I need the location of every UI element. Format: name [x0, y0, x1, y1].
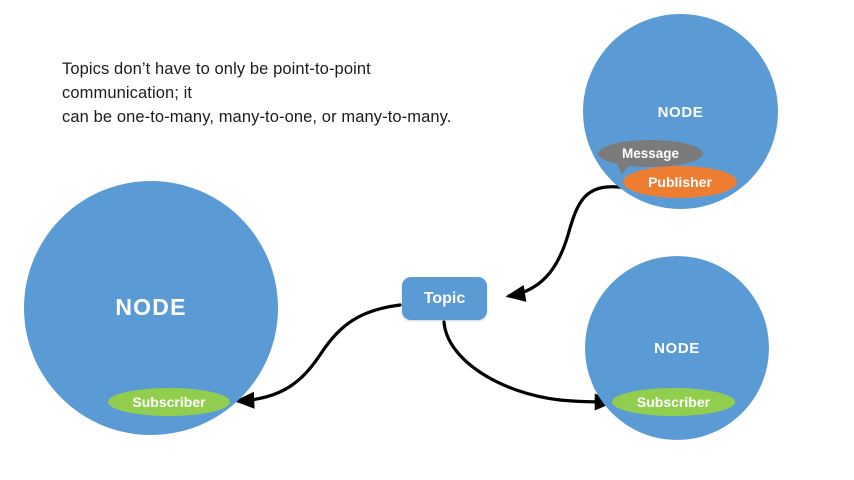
subscriber-pill-right[interactable]: Subscriber	[612, 388, 735, 416]
edge-publisher-to-topic	[509, 187, 627, 296]
node-label-subscriber-left: NODE	[24, 294, 278, 321]
publisher-pill[interactable]: Publisher	[623, 166, 737, 198]
message-label: Message	[598, 140, 703, 167]
caption-text: Topics don’t have to only be point-to-po…	[62, 58, 492, 130]
subscriber-pill-left[interactable]: Subscriber	[108, 388, 230, 416]
node-label-publisher: NODE	[583, 104, 778, 121]
node-label-subscriber-right: NODE	[585, 340, 769, 357]
diagram-canvas: Topics don’t have to only be point-to-po…	[0, 0, 854, 480]
topic-box[interactable]: Topic	[402, 277, 487, 320]
